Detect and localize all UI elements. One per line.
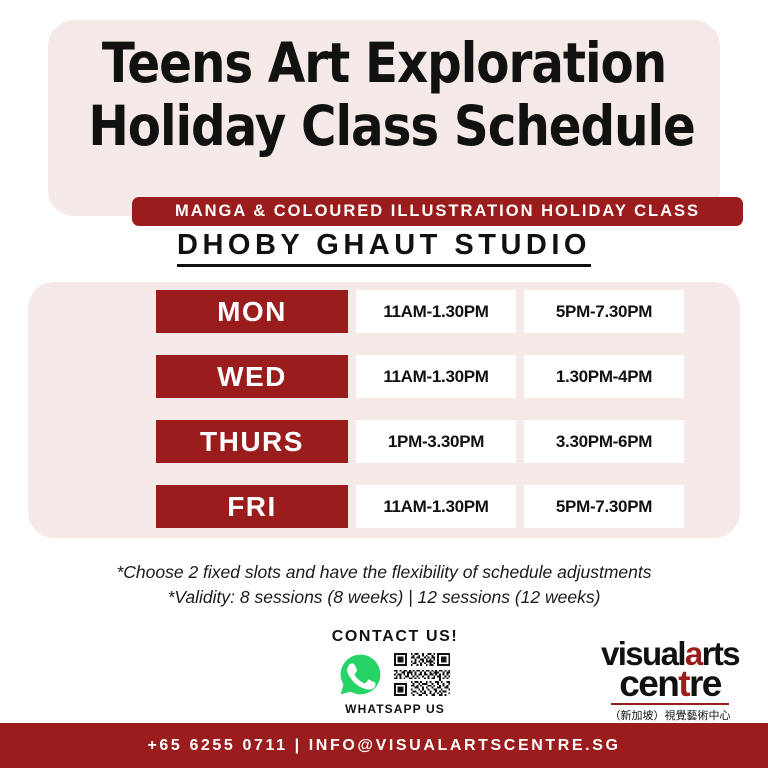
day-chip: THURS	[156, 420, 348, 463]
poster-canvas: Teens Art Exploration Holiday Class Sche…	[0, 0, 768, 768]
table-row: FRI 11AM-1.30PM 5PM-7.30PM	[156, 485, 684, 528]
table-row: THURS 1PM-3.30PM 3.30PM-6PM	[156, 420, 684, 463]
contact-subtitle: WHATSAPP US	[300, 702, 490, 716]
day-label: FRI	[227, 491, 277, 523]
time-slot-1: 11AM-1.30PM	[356, 355, 516, 398]
logo-centre-pre: cen	[619, 663, 678, 704]
day-chip: MON	[156, 290, 348, 333]
table-row: WED 11AM-1.30PM 1.30PM-4PM	[156, 355, 684, 398]
note-line-2: *Validity: 8 sessions (8 weeks) | 12 ses…	[0, 585, 768, 610]
footer-bar: +65 6255 0711 | INFO@VISUALARTSCENTRE.SG	[0, 723, 768, 768]
time-slot-2: 3.30PM-6PM	[524, 420, 684, 463]
title-line-2: Holiday Class Schedule	[88, 95, 679, 158]
day-label: THURS	[200, 426, 304, 458]
time-slot-1-label: 11AM-1.30PM	[383, 367, 488, 387]
time-slot-2-label: 5PM-7.30PM	[556, 302, 652, 322]
logo-line-centre: centre	[580, 668, 760, 700]
studio-name: DHOBY GHAUT STUDIO	[177, 229, 591, 267]
schedule-panel: MON 11AM-1.30PM 5PM-7.30PM WED 11AM-1.30…	[28, 282, 740, 538]
time-slot-1-label: 1PM-3.30PM	[388, 432, 484, 452]
table-row: MON 11AM-1.30PM 5PM-7.30PM	[156, 290, 684, 333]
notes-block: *Choose 2 fixed slots and have the flexi…	[0, 560, 768, 610]
note-line-1: *Choose 2 fixed slots and have the flexi…	[0, 560, 768, 585]
footer-contact-text[interactable]: +65 6255 0711 | INFO@VISUALARTSCENTRE.SG	[147, 737, 620, 755]
course-badge-label: MANGA & COLOURED ILLUSTRATION HOLIDAY CL…	[175, 202, 700, 221]
time-slot-2-label: 5PM-7.30PM	[556, 497, 652, 517]
contact-block: CONTACT US!	[300, 628, 490, 716]
qr-code[interactable]	[392, 651, 454, 698]
title-line-1: Teens Art Exploration	[88, 32, 679, 95]
whatsapp-icon[interactable]	[337, 651, 384, 698]
time-slot-1: 11AM-1.30PM	[356, 485, 516, 528]
day-chip: FRI	[156, 485, 348, 528]
time-slot-2-label: 3.30PM-6PM	[556, 432, 652, 452]
time-slot-1-label: 11AM-1.30PM	[383, 302, 488, 322]
brand-logo: visualarts centre （新加坡）視覺藝術中心	[580, 640, 760, 723]
day-label: MON	[217, 296, 287, 328]
time-slot-1: 1PM-3.30PM	[356, 420, 516, 463]
day-label: WED	[217, 361, 287, 393]
logo-centre-t: t	[678, 663, 689, 704]
contact-title: CONTACT US!	[300, 628, 490, 646]
time-slot-2: 1.30PM-4PM	[524, 355, 684, 398]
title-block: Teens Art Exploration Holiday Class Sche…	[48, 32, 720, 158]
logo-centre-post: re	[689, 663, 721, 704]
course-badge: MANGA & COLOURED ILLUSTRATION HOLIDAY CL…	[132, 197, 743, 226]
header-panel: Teens Art Exploration Holiday Class Sche…	[48, 20, 720, 216]
time-slot-1: 11AM-1.30PM	[356, 290, 516, 333]
time-slot-1-label: 11AM-1.30PM	[383, 497, 488, 517]
time-slot-2: 5PM-7.30PM	[524, 485, 684, 528]
time-slot-2-label: 1.30PM-4PM	[556, 367, 652, 387]
time-slot-2: 5PM-7.30PM	[524, 290, 684, 333]
day-chip: WED	[156, 355, 348, 398]
contact-icons-row	[300, 651, 490, 698]
logo-chinese-name: （新加坡）視覺藝術中心	[580, 707, 760, 723]
studio-heading: DHOBY GHAUT STUDIO	[0, 229, 768, 267]
